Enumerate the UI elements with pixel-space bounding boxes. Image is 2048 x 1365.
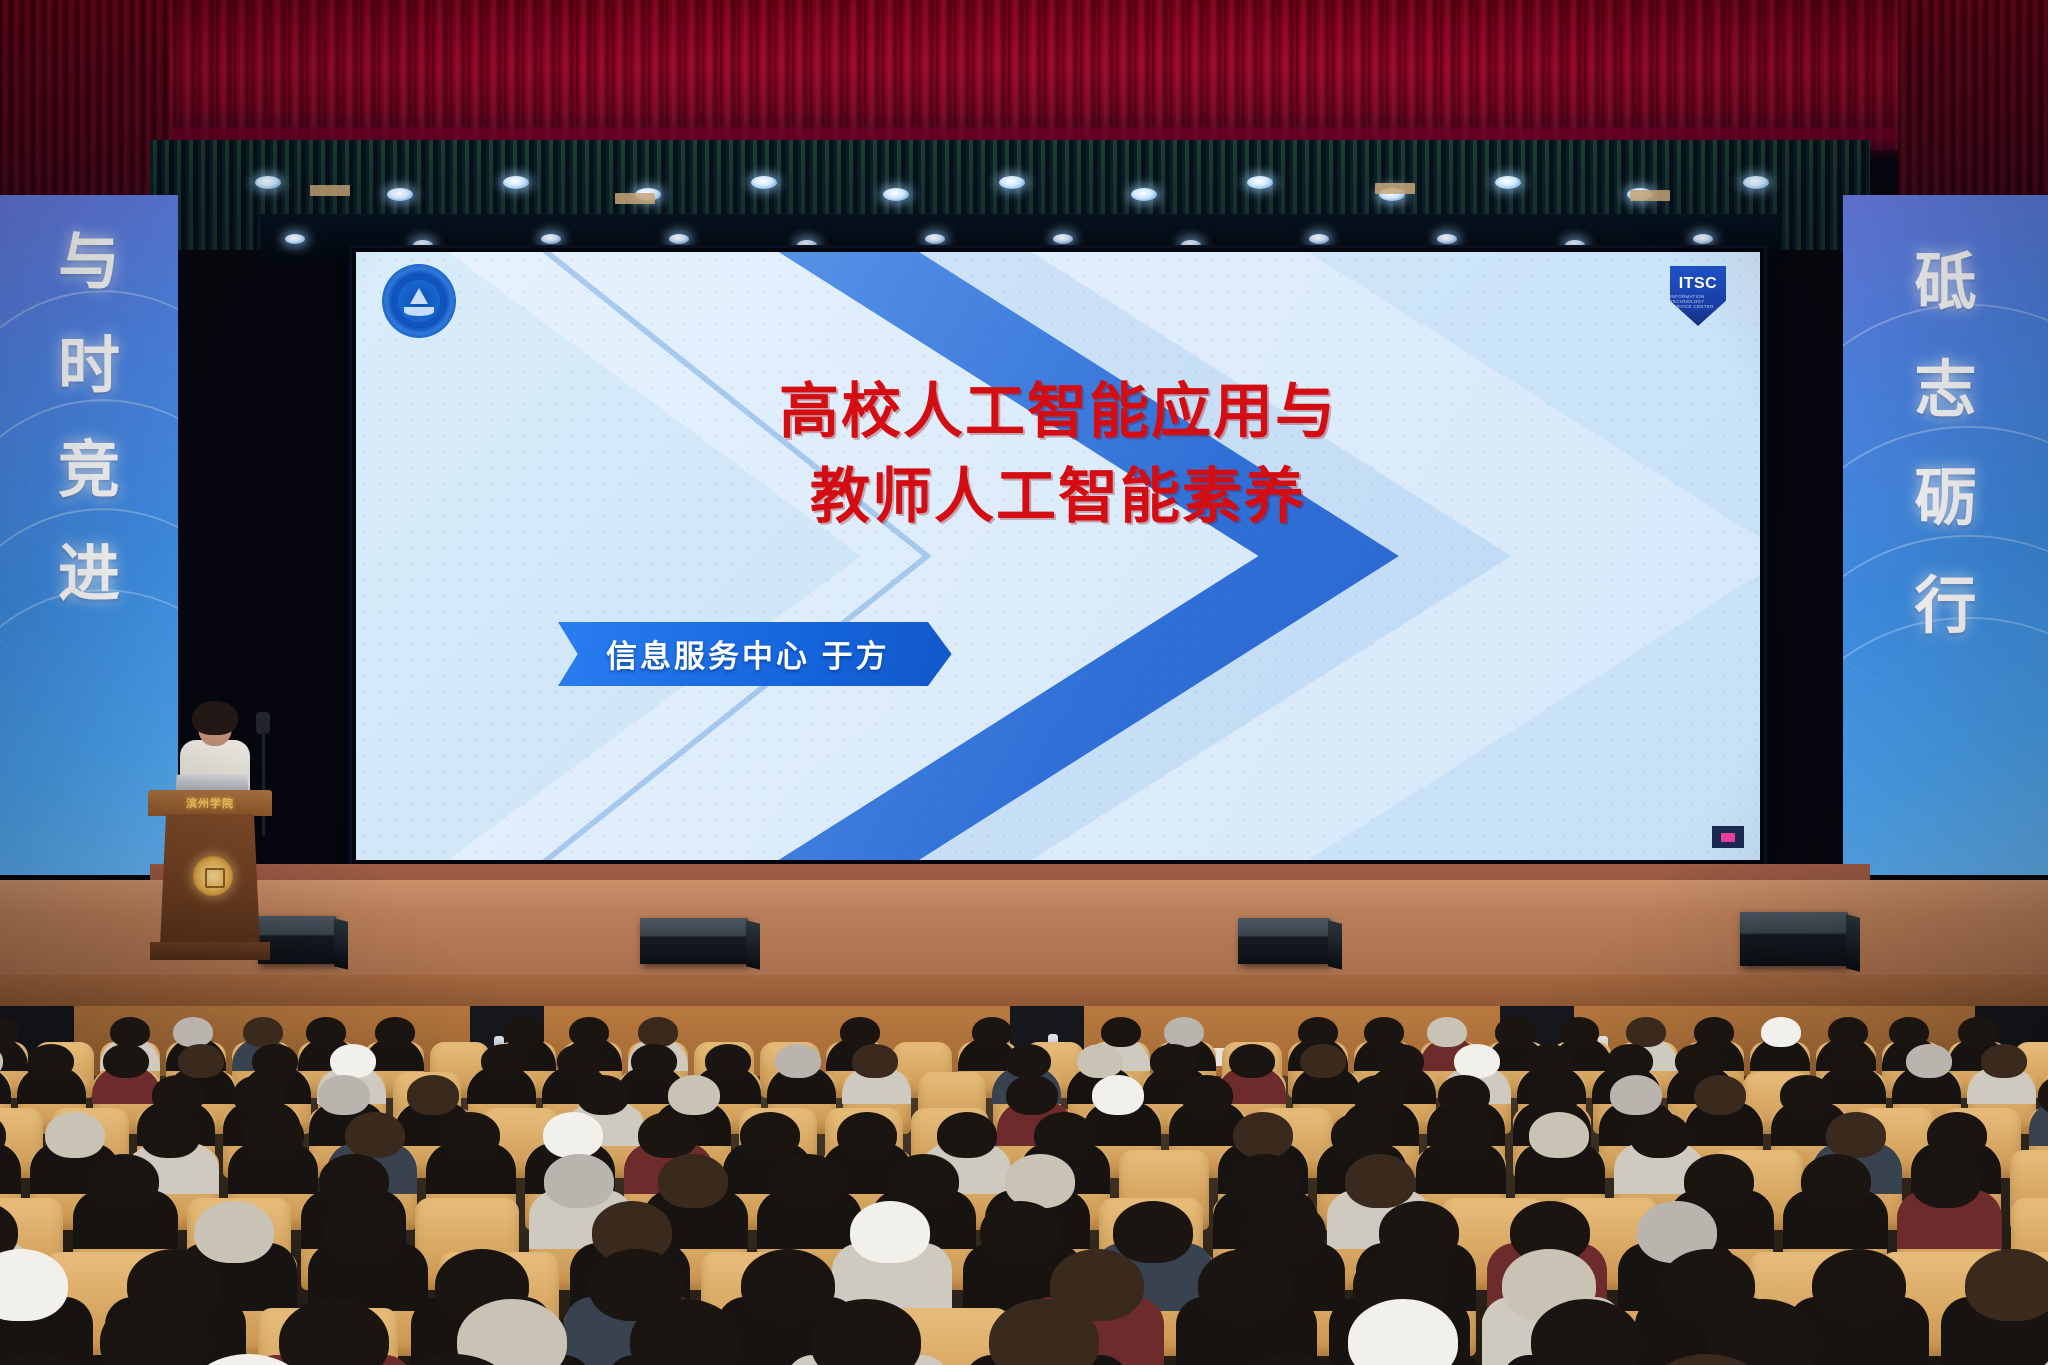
audience-member-head [1345, 1154, 1415, 1208]
audience-member-head [972, 1017, 1012, 1047]
audience-member-head [1378, 1044, 1424, 1078]
truss-panel-icon [1375, 183, 1415, 194]
audience-member-head [1101, 1017, 1141, 1047]
audience-member-head [1559, 1017, 1599, 1047]
audience-member-head [1527, 1075, 1579, 1115]
stage-light-icon [503, 176, 529, 189]
audience-member-head [1630, 1112, 1690, 1158]
audience-member-head [407, 1075, 459, 1115]
slide-title: 高校人工智能应用与 教师人工智能素养 [356, 370, 1760, 540]
audience-member-head [178, 1044, 224, 1078]
audience-member-head [152, 1075, 204, 1115]
audience-member-head [1198, 1249, 1292, 1321]
audience-member-head [89, 1154, 159, 1208]
right-led-banner: 砥 志 砺 行 [1843, 195, 2048, 875]
stage-light-icon [999, 176, 1025, 189]
audience-member-head [45, 1112, 105, 1158]
slide-dot-texture [356, 252, 1760, 860]
audience-member-head [440, 1112, 500, 1158]
audience-area [0, 1006, 2048, 1365]
audience-member-head [324, 1201, 404, 1263]
audience-member-head [1906, 1044, 1952, 1078]
audience-member-head [252, 1044, 298, 1078]
right-banner-char-2: 志 [1914, 359, 1976, 421]
stage-light-icon [883, 188, 909, 201]
audience-member-head [1927, 1112, 1987, 1158]
audience-member-head [330, 1044, 376, 1078]
stage-light-icon [1309, 234, 1329, 244]
audience-member-head [741, 1249, 835, 1321]
audience-member-head [1826, 1112, 1886, 1158]
audience-member-head [705, 1044, 751, 1078]
audience-member-head [1181, 1075, 1233, 1115]
stage-light-icon [1437, 234, 1457, 244]
left-banner-char-3: 竞 [58, 439, 120, 501]
truss-panel-icon [615, 193, 655, 204]
audience-member-head [543, 1112, 603, 1158]
audience-member-head [28, 1044, 74, 1078]
left-banner-char-1: 与 [58, 231, 120, 293]
left-banner-char-4: 进 [58, 543, 120, 605]
itsc-shield-label: ITSC [1679, 276, 1717, 292]
truss-panel-icon [1630, 190, 1670, 201]
audience-member-head [1812, 1249, 1906, 1321]
stage-light-icon [541, 234, 561, 244]
audience-member-head [1607, 1044, 1653, 1078]
audience-member-head [306, 1017, 346, 1047]
truss-panel-icon [310, 185, 350, 196]
gold-seal-icon [193, 856, 233, 896]
audience-member-head [1077, 1044, 1123, 1078]
audience-member-head [1830, 1044, 1876, 1078]
audience-member-head [1981, 1044, 2027, 1078]
audience-member-head [1626, 1017, 1666, 1047]
audience-member-head [110, 1017, 150, 1047]
audience-member-head [1694, 1075, 1746, 1115]
audience-member-head [1495, 1017, 1535, 1047]
audience-member-head [1150, 1044, 1196, 1078]
audience-member-head [1694, 1017, 1734, 1047]
right-banner-char-4: 行 [1914, 575, 1976, 637]
audience-member-head [375, 1017, 415, 1047]
audience-member-head [1364, 1017, 1404, 1047]
audience-member-head [194, 1201, 274, 1263]
audience-member-head [852, 1044, 898, 1078]
audience-member-head [1529, 1112, 1589, 1158]
stage-light-icon [1247, 176, 1273, 189]
audience-member-head [577, 1075, 629, 1115]
stage-light-icon [387, 188, 413, 201]
left-led-banner: 与 时 竞 进 [0, 195, 178, 875]
audience-member-head [173, 1017, 213, 1047]
right-banner-text: 砥 志 砺 行 [1843, 251, 2048, 637]
stage-monitor-speaker [1238, 918, 1330, 964]
stage-light-icon [1743, 176, 1769, 189]
slide-title-line-1: 高校人工智能应用与 [779, 377, 1337, 447]
pink-badge-icon [1712, 826, 1744, 848]
audience-member-head [1675, 1044, 1721, 1078]
audience-member-head [980, 1201, 1060, 1263]
presentation-slide: ITSC INFORMATION TECHNOLOGY SERVICE CENT… [356, 252, 1760, 860]
stage-apron [0, 975, 2048, 1010]
audience-member-head [937, 1112, 997, 1158]
left-banner-text: 与 时 竞 进 [0, 231, 178, 605]
left-banner-char-2: 时 [58, 335, 120, 397]
slide-title-line-2: 教师人工智能素养 [356, 455, 1760, 540]
audience-member-head [1331, 1112, 1391, 1158]
audience-member-head [1526, 1044, 1572, 1078]
audience-member-head [1427, 1017, 1467, 1047]
audience-member-head [773, 1154, 843, 1208]
stage-light-icon [925, 234, 945, 244]
itsc-shield-sublabel: INFORMATION TECHNOLOGY SERVICE CENTER [1670, 294, 1726, 309]
audience-member-head [1233, 1112, 1293, 1158]
audience-member-head [1092, 1075, 1144, 1115]
stage-light-icon [255, 176, 281, 189]
podium-base [150, 942, 270, 960]
audience-member-head [889, 1154, 959, 1208]
audience-member-head [1610, 1075, 1662, 1115]
main-projection-screen: ITSC INFORMATION TECHNOLOGY SERVICE CENT… [352, 248, 1764, 864]
audience-member-head [1438, 1075, 1490, 1115]
audience-member-head [345, 1112, 405, 1158]
audience-member-head [569, 1017, 609, 1047]
right-banner-char-1: 砥 [1914, 251, 1976, 313]
audience-member-head [1164, 1017, 1204, 1047]
audience-member-head [1113, 1201, 1193, 1263]
audience-member-head [775, 1044, 821, 1078]
audience-member-head [631, 1044, 677, 1078]
audience-member-head [140, 1112, 200, 1158]
audience-member-head [544, 1154, 614, 1208]
audience-member-head [1300, 1044, 1346, 1078]
audience-member-head [850, 1201, 930, 1263]
audience-member-head [244, 1112, 304, 1158]
audience-member-head [1780, 1075, 1832, 1115]
audience-member-head [103, 1044, 149, 1078]
stage-light-icon [1131, 188, 1157, 201]
audience-member-head [668, 1075, 720, 1115]
auditorium-scene: 与 时 竞 进 砥 志 砺 行 [0, 0, 2048, 1365]
microphone-stand [262, 724, 265, 836]
right-banner-char-3: 砺 [1914, 467, 1976, 529]
audience-member-head [319, 1154, 389, 1208]
audience-member-head [1828, 1017, 1868, 1047]
audience-member-head [638, 1112, 698, 1158]
university-seal-icon [382, 264, 456, 338]
audience-member-head [1298, 1017, 1338, 1047]
audience-member-head [1958, 1017, 1998, 1047]
audience-member-head [1761, 1017, 1801, 1047]
audience-member-head [740, 1112, 800, 1158]
audience-member-head [243, 1017, 283, 1047]
audience-member-head [1889, 1017, 1929, 1047]
audience-member-head [840, 1017, 880, 1047]
audience-member-head [1005, 1044, 1051, 1078]
audience-member-head [1911, 1154, 1981, 1208]
audience-member-head [1229, 1044, 1275, 1078]
audience-member-head [1684, 1154, 1754, 1208]
stage-monitor-speaker [640, 918, 748, 964]
audience-member-head [481, 1044, 527, 1078]
audience-member-head [638, 1017, 678, 1047]
stage-light-icon [1053, 234, 1073, 244]
audience-member-head [557, 1044, 603, 1078]
audience-member-head [1353, 1075, 1405, 1115]
audience-member-head [504, 1017, 544, 1047]
audience-member-head [1965, 1249, 2048, 1321]
audience-member-head [1005, 1154, 1075, 1208]
stage-light-icon [669, 234, 689, 244]
audience-member-head [1433, 1112, 1493, 1158]
audience-member-head [837, 1112, 897, 1158]
presenter-banner: 信息服务中心 于方 [558, 622, 952, 686]
audience-member-head [658, 1154, 728, 1208]
stage-light-icon [751, 176, 777, 189]
audience-member-head [1034, 1112, 1094, 1158]
podium-top: 滨州学院 [148, 790, 272, 816]
stage-monitor-speaker [1740, 912, 1848, 966]
stage-light-icon [285, 234, 305, 244]
audience-member-head [1801, 1154, 1871, 1208]
audience-member-head [1454, 1044, 1500, 1078]
audience-member-head [318, 1075, 370, 1115]
audience-member-head [1006, 1075, 1058, 1115]
audience-member-head [1230, 1154, 1300, 1208]
stage-light-icon [1693, 234, 1713, 244]
podium-nameplate: 滨州学院 [186, 795, 234, 811]
stage-light-icon [1495, 176, 1521, 189]
audience-member-head [233, 1075, 285, 1115]
